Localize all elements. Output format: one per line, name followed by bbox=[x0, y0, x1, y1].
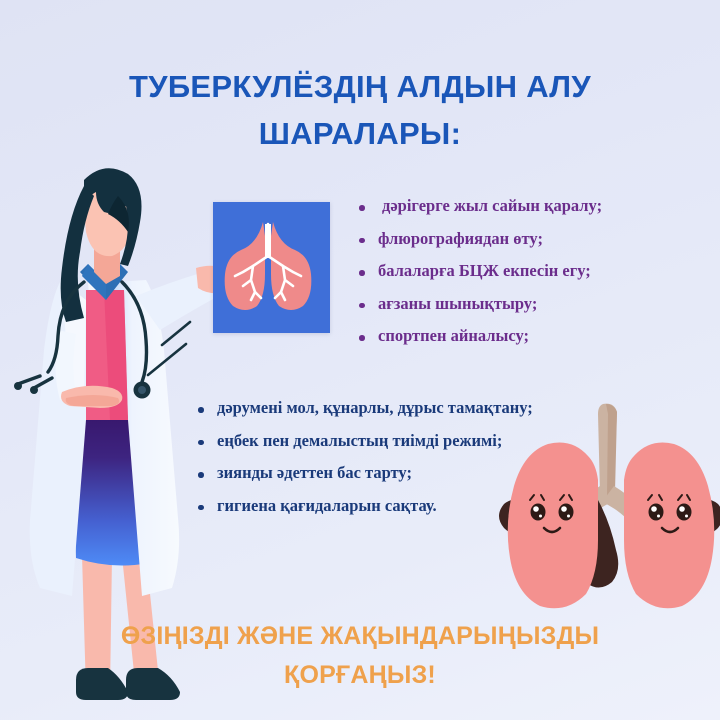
chest-xray-panel bbox=[213, 202, 330, 333]
doctor-collar bbox=[80, 264, 128, 300]
mascot-middle-arm bbox=[564, 498, 618, 588]
footer-callout: ӨЗІҢІЗДІ ЖӘНЕ ЖАҚЫНДАРЫҢЫЗДЫ ҚОРҒАҢЫЗ! bbox=[0, 617, 720, 695]
list-item: зиянды әдеттен бас тарту; bbox=[196, 465, 533, 482]
mascot-right-lung bbox=[624, 443, 714, 609]
title-line-2: ШАРАЛАРЫ: bbox=[0, 110, 720, 157]
list-item: дәрумені мол, құнарлы, дұрыс тамақтану; bbox=[196, 400, 533, 417]
stethoscope bbox=[18, 282, 147, 388]
mascot-left-face bbox=[530, 495, 574, 532]
list-item: спортпен айналысу; bbox=[357, 328, 602, 345]
doctor-coat bbox=[30, 280, 86, 596]
doctor-head bbox=[85, 176, 132, 257]
list-item: балаларға БЦЖ екпесін егу; bbox=[357, 263, 602, 280]
doctor-neck bbox=[94, 232, 120, 284]
list-item: еңбек пен демалыстың тиімді режимі; bbox=[196, 433, 533, 450]
list-item: гигиена қағидаларын сақтау. bbox=[196, 498, 533, 515]
doctor-hand bbox=[61, 386, 122, 408]
list-item: дәрігерге жыл сайын қаралу; bbox=[357, 198, 602, 215]
stethoscope-chestpiece bbox=[134, 382, 151, 399]
list-item: ағзаны шынықтыру; bbox=[357, 296, 602, 313]
doctor-lower-arm bbox=[55, 330, 78, 402]
pointer-lines bbox=[148, 322, 190, 375]
doctor-top bbox=[86, 290, 128, 420]
poster-canvas: ТУБЕРКУЛЁЗДІҢ АЛДЫН АЛУ ШАРАЛАРЫ: дәріге… bbox=[0, 0, 720, 720]
lifestyle-measures-list: дәрумені мол, құнарлы, дұрыс тамақтану; … bbox=[196, 400, 533, 530]
doctor-skirt bbox=[72, 385, 162, 566]
mascot-right-face bbox=[648, 495, 692, 532]
mascot-right-arm bbox=[664, 499, 720, 584]
prevention-measures-list: дәрігерге жыл сайын қаралу; флюрографияд… bbox=[357, 198, 602, 361]
doctor-hair bbox=[61, 168, 142, 322]
page-title: ТУБЕРКУЛЁЗДІҢ АЛДЫН АЛУ ШАРАЛАРЫ: bbox=[0, 63, 720, 157]
xray-lungs-graphic bbox=[213, 202, 330, 333]
title-line-1: ТУБЕРКУЛЁЗДІҢ АЛДЫН АЛУ bbox=[0, 63, 720, 110]
list-item: флюрографиядан өту; bbox=[357, 231, 602, 248]
mascot-trachea bbox=[572, 404, 642, 520]
footer-line-2: ҚОРҒАҢЫЗ! bbox=[0, 656, 720, 695]
footer-line-1: ӨЗІҢІЗДІ ЖӘНЕ ЖАҚЫНДАРЫҢЫЗДЫ bbox=[0, 617, 720, 656]
